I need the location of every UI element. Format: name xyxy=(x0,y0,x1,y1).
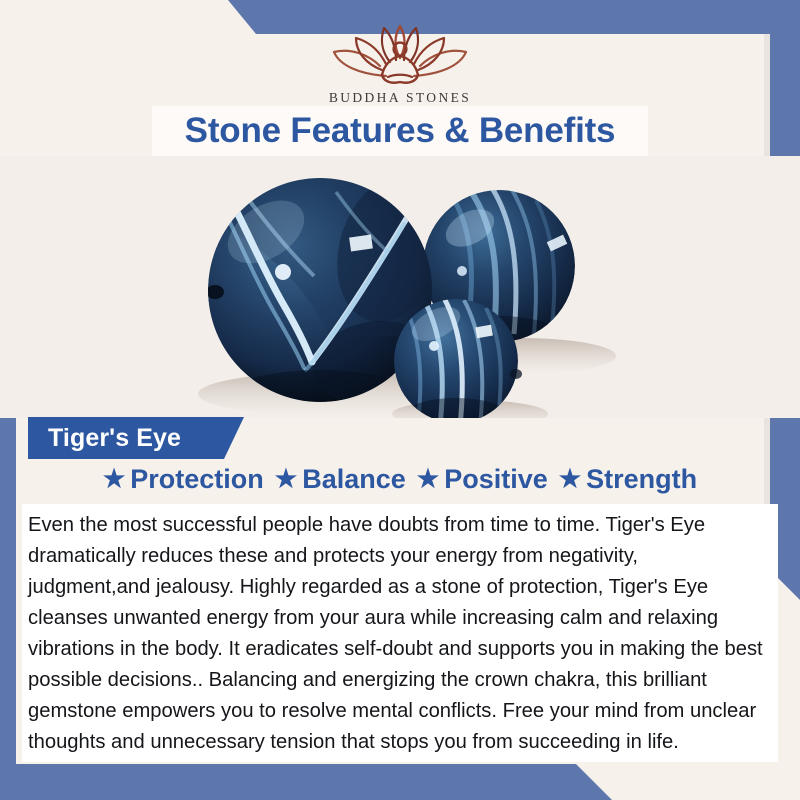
star-icon: ★ xyxy=(103,467,125,492)
benefit-label: Strength xyxy=(586,464,697,495)
benefit-label: Positive xyxy=(444,464,548,495)
lotus-meditation-icon xyxy=(320,22,480,88)
benefit-item: ★ Strength xyxy=(559,464,697,495)
star-icon: ★ xyxy=(417,467,439,492)
brand-wordmark: BUDDHA STONES xyxy=(0,90,800,106)
benefit-item: ★ Positive xyxy=(417,464,548,495)
star-icon: ★ xyxy=(559,467,581,492)
title-banner: Stone Features & Benefits xyxy=(152,106,648,156)
benefit-label: Protection xyxy=(130,464,264,495)
stone-photo-graphic xyxy=(0,156,800,418)
description-panel: Even the most successful people have dou… xyxy=(22,504,778,762)
decor-frame-bottom-left xyxy=(0,764,640,800)
benefit-item: ★ Balance xyxy=(275,464,406,495)
benefit-label: Balance xyxy=(302,464,406,495)
page-title: Stone Features & Benefits xyxy=(185,111,616,151)
description-text: Even the most successful people have dou… xyxy=(28,510,764,758)
stone-name-banner: Tiger's Eye xyxy=(28,417,244,459)
star-icon: ★ xyxy=(275,467,297,492)
brand-logo: BUDDHA STONES xyxy=(0,22,800,106)
stone-name: Tiger's Eye xyxy=(48,424,181,453)
stone-photo xyxy=(0,156,800,418)
benefits-row: ★ Protection ★ Balance ★ Positive ★ Stre… xyxy=(0,464,800,495)
benefit-item: ★ Protection xyxy=(103,464,264,495)
poster-canvas: BUDDHA STONES Stone Features & Benefits xyxy=(0,0,800,800)
